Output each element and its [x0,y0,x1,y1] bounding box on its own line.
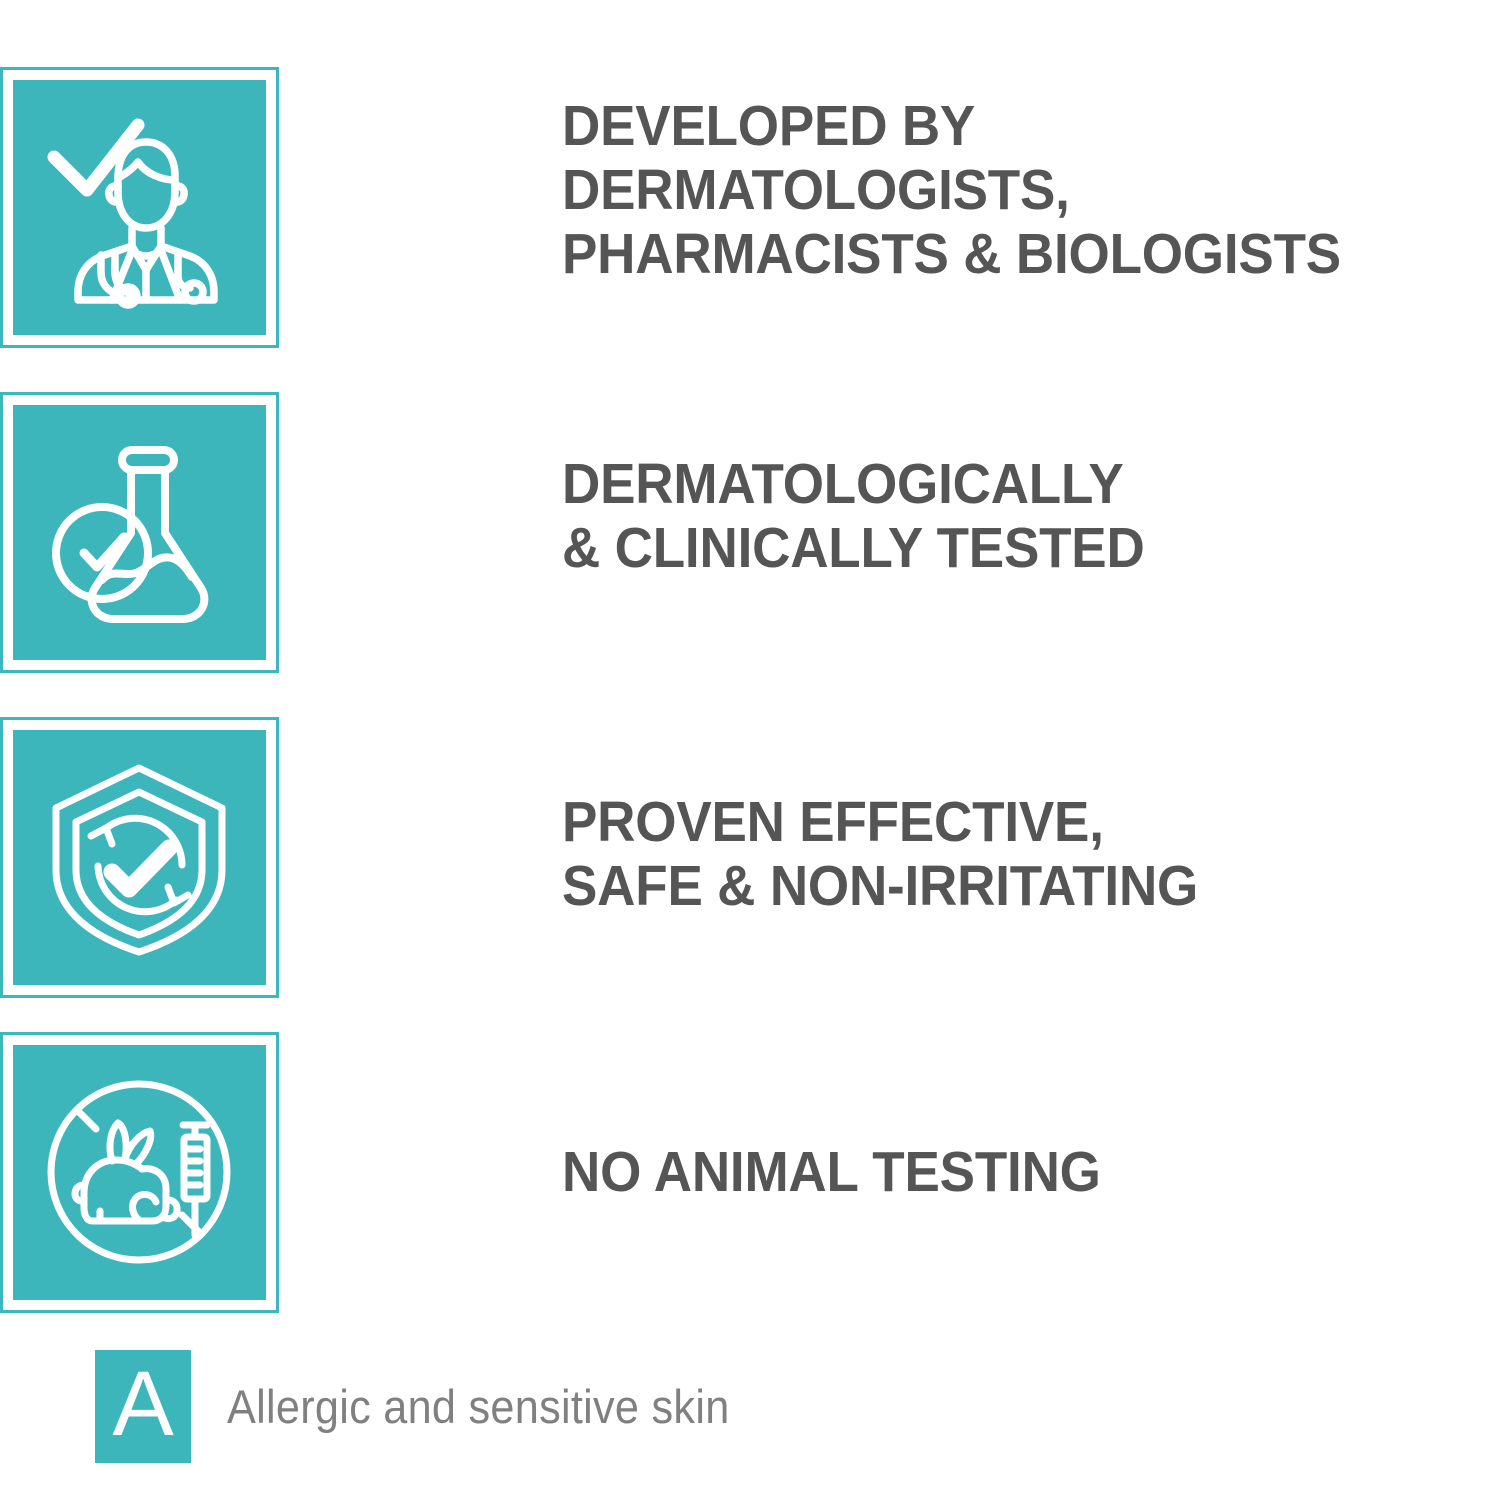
feature-text-developed-by: DEVELOPED BY DERMATOLOGISTS, PHARMACISTS… [562,94,1341,286]
icon-frame-no-animal-testing [0,1032,279,1313]
feature-text-no-animal-testing: NO ANIMAL TESTING [562,1140,1101,1204]
allergic-skin-badge: A Allergic and sensitive skin [95,1350,773,1463]
flask-check-icon [13,405,266,660]
doctor-check-icon [13,80,266,335]
no-animal-testing-icon [13,1045,266,1300]
icon-frame-developed-by [0,67,279,348]
feature-text-proven-effective: PROVEN EFFECTIVE, SAFE & NON-IRRITATING [562,790,1198,918]
shield-check-refresh-icon [13,730,266,985]
icon-frame-proven-effective [0,717,279,998]
badge-label-allergic-skin: Allergic and sensitive skin [227,1382,730,1432]
feature-text-dermatologically-tested: DERMATOLOGICALLY & CLINICALLY TESTED [562,452,1145,580]
icon-frame-dermatologically-tested [0,392,279,673]
benefits-panel: DEVELOPED BY DERMATOLOGISTS, PHARMACISTS… [0,0,1500,1500]
badge-letter-a: A [95,1350,191,1463]
